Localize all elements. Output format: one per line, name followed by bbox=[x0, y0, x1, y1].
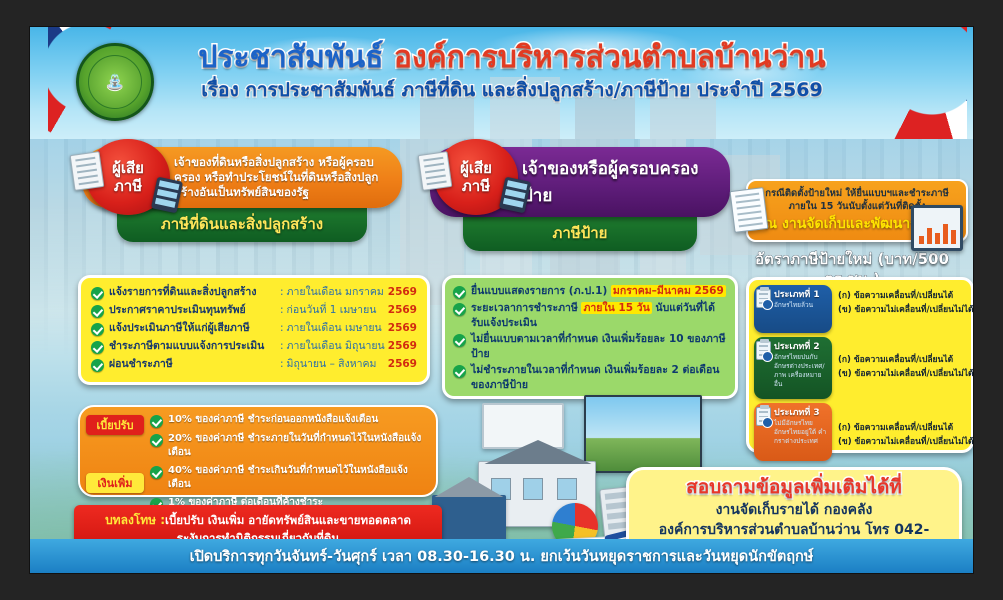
schedule-separator: : bbox=[277, 321, 287, 336]
sign-tax-info-box: ยื่นแบบแสดงรายการ (ภ.ป.1) มกราคม–มีนาคม … bbox=[442, 275, 738, 399]
poster-canvas: ⛲ ประชาสัมพันธ์ องค์การบริหารส่วนตำบลบ้า… bbox=[30, 27, 973, 573]
rate-category-subtitle: อักษรไทยล้วน bbox=[774, 301, 828, 310]
page-title: ประชาสัมพันธ์ องค์การบริหารส่วนตำบลบ้านว… bbox=[162, 39, 862, 77]
rate-line: (ข) ข้อความไม่เคลื่อนที่/เปลี่ยนไม่ได้ bbox=[838, 367, 973, 381]
poster-header: ⛲ ประชาสัมพันธ์ องค์การบริหารส่วนตำบลบ้า… bbox=[30, 27, 973, 139]
header-title-block: ประชาสัมพันธ์ องค์การบริหารส่วนตำบลบ้านว… bbox=[162, 39, 862, 103]
check-icon bbox=[453, 303, 466, 316]
schedule-row: แจ้งประเมินภาษีให้แก่ผู้เสียภาษี : ภายใน… bbox=[91, 321, 417, 336]
schedule-value: ภายในเดือน มิถุนายน bbox=[287, 339, 388, 354]
sign-tax-tab-label: ภาษีป้าย bbox=[553, 224, 608, 242]
punishment-line1: เบี้ยปรับ เงินเพิ่ม อายัดทรัพย์สินและขาย… bbox=[165, 513, 411, 527]
sign-tax-item: ไม่ยื่นแบบตามเวลาที่กำหนด เงินเพิ่มร้อยล… bbox=[453, 332, 727, 361]
title-organization: องค์การบริหารส่วนตำบลบ้านว่าน bbox=[394, 40, 826, 75]
document-icon bbox=[70, 151, 105, 191]
rate-category-title: ประเภทที่ 2 bbox=[774, 341, 828, 353]
sign-tax-item-highlight: ภายใน 15 วัน bbox=[581, 302, 651, 314]
penalty-list: 10% ของค่าภาษี ชำระก่อนออกหนังสือแจ้งเตื… bbox=[150, 413, 428, 511]
sign-tax-item-pre: ไม่ยื่นแบบตามเวลาที่กำหนด เงินเพิ่มร้อยล… bbox=[471, 332, 727, 361]
rate-line: (ข) ข้อความไม่เคลื่อนที่/เปลี่ยนไม่ได้ bbox=[838, 303, 973, 317]
schedule-separator: : bbox=[277, 285, 287, 300]
rate-line: (ก) ข้อความเคลื่อนที่/เปลี่ยนได้ bbox=[838, 421, 973, 435]
check-icon bbox=[91, 305, 104, 318]
check-icon bbox=[91, 287, 104, 300]
penalty-item-text: 40% ของค่าภาษี ชำระเกินวันที่กำหนดไว้ในห… bbox=[168, 464, 428, 492]
sign-tax-item-pre: ไม่ชำระภายในเวลาที่กำหนด เงินเพิ่มร้อยละ… bbox=[471, 363, 727, 392]
penalty-item-text: 10% ของค่าภาษี ชำระก่อนออกหนังสือแจ้งเตื… bbox=[168, 413, 378, 427]
land-tax-schedule-box: แจ้งรายการที่ดินและสิ่งปลูกสร้าง : ภายใน… bbox=[78, 275, 430, 385]
schedule-row: ชำระภาษีตามแบบแจ้งการประเมิน : ภายในเดือ… bbox=[91, 339, 417, 354]
sign-tax-taxpayer-description: เจ้าของหรือผู้ครอบครองป้าย bbox=[522, 155, 718, 209]
document-icon bbox=[418, 151, 453, 191]
calculator-icon bbox=[151, 177, 183, 214]
title-primary: ประชาสัมพันธ์ bbox=[198, 40, 383, 75]
sign-tax-item-highlight: มกราคม–มีนาคม 2569 bbox=[611, 285, 726, 297]
logo-inner-circle: ⛲ bbox=[88, 55, 142, 109]
sign-tax-item: ระยะเวลาการชำระภาษี ภายใน 15 วัน นับแต่ว… bbox=[453, 301, 727, 330]
schedule-row: ประกาศราคาประเมินทุนทรัพย์ : ก่อนวันที่ … bbox=[91, 303, 417, 318]
check-icon bbox=[91, 323, 104, 336]
land-tax-tab-label: ภาษีที่ดินและสิ่งปลูกสร้าง bbox=[161, 215, 323, 233]
schedule-year: 2569 bbox=[388, 357, 417, 372]
check-icon bbox=[453, 365, 466, 378]
land-tax-tab: ภาษีที่ดินและสิ่งปลูกสร้าง bbox=[117, 208, 367, 242]
taxpayer-badge-sign: ผู้เสีย ภาษี bbox=[434, 139, 518, 215]
rate-category-3: ประเภทที่ 3 ไม่มีอักษรไทย อักษรไทยอยู่ใต… bbox=[754, 403, 832, 461]
check-icon bbox=[453, 334, 466, 347]
rate-row: ประเภทที่ 1 อักษรไทยล้วน (ก) ข้อความเคลื… bbox=[754, 285, 966, 333]
penalty-fine-tag: เบี้ยปรับ bbox=[86, 415, 144, 435]
rate-category-title: ประเภทที่ 3 bbox=[774, 407, 828, 419]
rate-line: (ก) ข้อความเคลื่อนที่/เปลี่ยนได้ bbox=[838, 289, 973, 303]
penalty-item: 10% ของค่าภาษี ชำระก่อนออกหนังสือแจ้งเตื… bbox=[150, 413, 428, 428]
check-icon bbox=[150, 415, 163, 428]
schedule-value: มิถุนายน – สิงหาคม bbox=[287, 357, 388, 372]
penalty-item-text: 20% ของค่าภาษี ชำระภายในวันที่กำหนดไว้ใน… bbox=[168, 432, 428, 460]
clipboard-check-icon bbox=[756, 407, 771, 426]
landscape-billboard-icon bbox=[584, 395, 702, 473]
sign-tax-item: ไม่ชำระภายในเวลาที่กำหนด เงินเพิ่มร้อยละ… bbox=[453, 363, 727, 392]
rate-descriptions: (ก) ข้อความเคลื่อนที่/เปลี่ยนได้ (ข) ข้อ… bbox=[832, 337, 973, 399]
penalty-item: 20% ของค่าภาษี ชำระภายในวันที่กำหนดไว้ใน… bbox=[150, 432, 428, 460]
schedule-label: แจ้งรายการที่ดินและสิ่งปลูกสร้าง bbox=[109, 285, 277, 300]
schedule-year: 2569 bbox=[388, 303, 417, 318]
form-document-icon bbox=[730, 187, 769, 233]
office-hours-text: เปิดบริการทุกวันจันทร์-วันศุกร์ เวลา 08.… bbox=[190, 545, 814, 568]
sign-tax-taxpayer-pill: ผู้เสีย ภาษี เจ้าของหรือผู้ครอบครองป้าย bbox=[430, 147, 730, 217]
blank-billboard-icon bbox=[482, 403, 564, 449]
schedule-label: ผ่อนชำระภาษี bbox=[109, 357, 277, 372]
schedule-year: 2569 bbox=[388, 339, 417, 354]
rate-row: ประเภทที่ 2 อักษรไทยปนกับ อักษรต่างประเท… bbox=[754, 337, 966, 399]
rate-category-2: ประเภทที่ 2 อักษรไทยปนกับ อักษรต่างประเท… bbox=[754, 337, 832, 399]
sign-tax-rate-table: ประเภทที่ 1 อักษรไทยล้วน (ก) ข้อความเคลื… bbox=[746, 277, 973, 453]
rate-category-subtitle: ไม่มีอักษรไทย อักษรไทยอยู่ใต้ คำกราต่างป… bbox=[774, 419, 828, 446]
schedule-value: ภายในเดือน มกราคม bbox=[287, 285, 388, 300]
new-sign-notice-line1: กรณีติดตั้งป้ายใหม่ ให้ยื่นแบบฯและชำระภา… bbox=[756, 187, 958, 200]
schedule-value: ภายในเดือน เมษายน bbox=[287, 321, 388, 336]
taxpayer-badge-sign-line1: ผู้เสีย bbox=[460, 159, 492, 177]
contact-heading: สอบถามข้อมูลเพิ่มเติมได้ที่ bbox=[635, 475, 953, 500]
sign-tax-tab: ภาษีป้าย bbox=[463, 217, 697, 251]
schedule-separator: : bbox=[277, 357, 287, 372]
check-icon bbox=[150, 466, 163, 479]
schedule-label: ประกาศราคาประเมินทุนทรัพย์ bbox=[109, 303, 277, 318]
schedule-value: ก่อนวันที่ 1 เมษายน bbox=[287, 303, 388, 318]
rate-descriptions: (ก) ข้อความเคลื่อนที่/เปลี่ยนได้ (ข) ข้อ… bbox=[832, 285, 973, 333]
monitor-chart-icon bbox=[911, 205, 963, 251]
schedule-year: 2569 bbox=[388, 285, 417, 300]
sign-tax-item-pre: ระยะเวลาการชำระภาษี bbox=[471, 302, 581, 314]
taxpayer-badge-line1: ผู้เสีย bbox=[112, 159, 144, 177]
schedule-row: แจ้งรายการที่ดินและสิ่งปลูกสร้าง : ภายใน… bbox=[91, 285, 417, 300]
sign-tax-item: ยื่นแบบแสดงรายการ (ภ.ป.1) มกราคม–มีนาคม … bbox=[453, 284, 727, 299]
check-icon bbox=[150, 434, 163, 447]
check-icon bbox=[91, 359, 104, 372]
taxpayer-badge-sign-line2: ภาษี bbox=[462, 177, 490, 195]
schedule-separator: : bbox=[277, 339, 287, 354]
temple-glyph-icon: ⛲ bbox=[106, 73, 125, 91]
clipboard-check-icon bbox=[756, 289, 771, 308]
schedule-year: 2569 bbox=[388, 321, 417, 336]
land-tax-taxpayer-pill: ผู้เสีย ภาษี เจ้าของที่ดินหรือสิ่งปลูกสร… bbox=[82, 147, 402, 208]
organization-logo: ⛲ bbox=[76, 43, 154, 121]
sign-tax-item-pre: ยื่นแบบแสดงรายการ (ภ.ป.1) bbox=[471, 285, 611, 297]
page-subtitle: เรื่อง การประชาสัมพันธ์ ภาษีที่ดิน และสิ… bbox=[162, 77, 862, 103]
penalty-box: เบี้ยปรับ เงินเพิ่ม 10% ของค่าภาษี ชำระก… bbox=[78, 405, 438, 497]
schedule-label: ชำระภาษีตามแบบแจ้งการประเมิน bbox=[109, 339, 277, 354]
rate-line: (ข) ข้อความไม่เคลื่อนที่/เปลี่ยนไม่ได้ bbox=[838, 435, 973, 449]
rate-category-1: ประเภทที่ 1 อักษรไทยล้วน bbox=[754, 285, 832, 333]
taxpayer-badge-land: ผู้เสีย ภาษี bbox=[86, 139, 170, 215]
rate-row: ประเภทที่ 3 ไม่มีอักษรไทย อักษรไทยอยู่ใต… bbox=[754, 403, 966, 461]
bar-chart-glyph bbox=[919, 222, 956, 244]
penalty-surcharge-tag: เงินเพิ่ม bbox=[86, 473, 144, 493]
punishment-tag: บทลงโทษ : bbox=[105, 513, 165, 527]
schedule-row: ผ่อนชำระภาษี : มิถุนายน – สิงหาคม 2569 bbox=[91, 357, 417, 372]
sign-tax-taxpayer-group: ผู้เสีย ภาษี เจ้าของหรือผู้ครอบครองป้าย … bbox=[430, 147, 730, 251]
taxpayer-badge-line2: ภาษี bbox=[114, 177, 142, 195]
check-icon bbox=[453, 286, 466, 299]
land-tax-taxpayer-description: เจ้าของที่ดินหรือสิ่งปลูกสร้าง หรือผู้คร… bbox=[174, 155, 390, 200]
rate-category-title: ประเภทที่ 1 bbox=[774, 289, 828, 301]
schedule-separator: : bbox=[277, 303, 287, 318]
schedule-label: แจ้งประเมินภาษีให้แก่ผู้เสียภาษี bbox=[109, 321, 277, 336]
thai-flag-ribbon-right-icon bbox=[847, 27, 967, 139]
check-icon bbox=[91, 341, 104, 354]
rate-descriptions: (ก) ข้อความเคลื่อนที่/เปลี่ยนได้ (ข) ข้อ… bbox=[832, 403, 973, 461]
clipboard-check-icon bbox=[756, 341, 771, 360]
office-hours-bar: เปิดบริการทุกวันจันทร์-วันศุกร์ เวลา 08.… bbox=[30, 539, 973, 573]
contact-department: งานจัดเก็บรายได้ กองคลัง bbox=[635, 500, 953, 520]
penalty-item: 40% ของค่าภาษี ชำระเกินวันที่กำหนดไว้ในห… bbox=[150, 464, 428, 492]
land-tax-taxpayer-group: ผู้เสีย ภาษี เจ้าของที่ดินหรือสิ่งปลูกสร… bbox=[82, 147, 402, 242]
rate-category-subtitle: อักษรไทยปนกับ อักษรต่างประเทศ/ภาพ เครื่อ… bbox=[774, 353, 828, 389]
rate-line: (ก) ข้อความเคลื่อนที่/เปลี่ยนได้ bbox=[838, 353, 973, 367]
